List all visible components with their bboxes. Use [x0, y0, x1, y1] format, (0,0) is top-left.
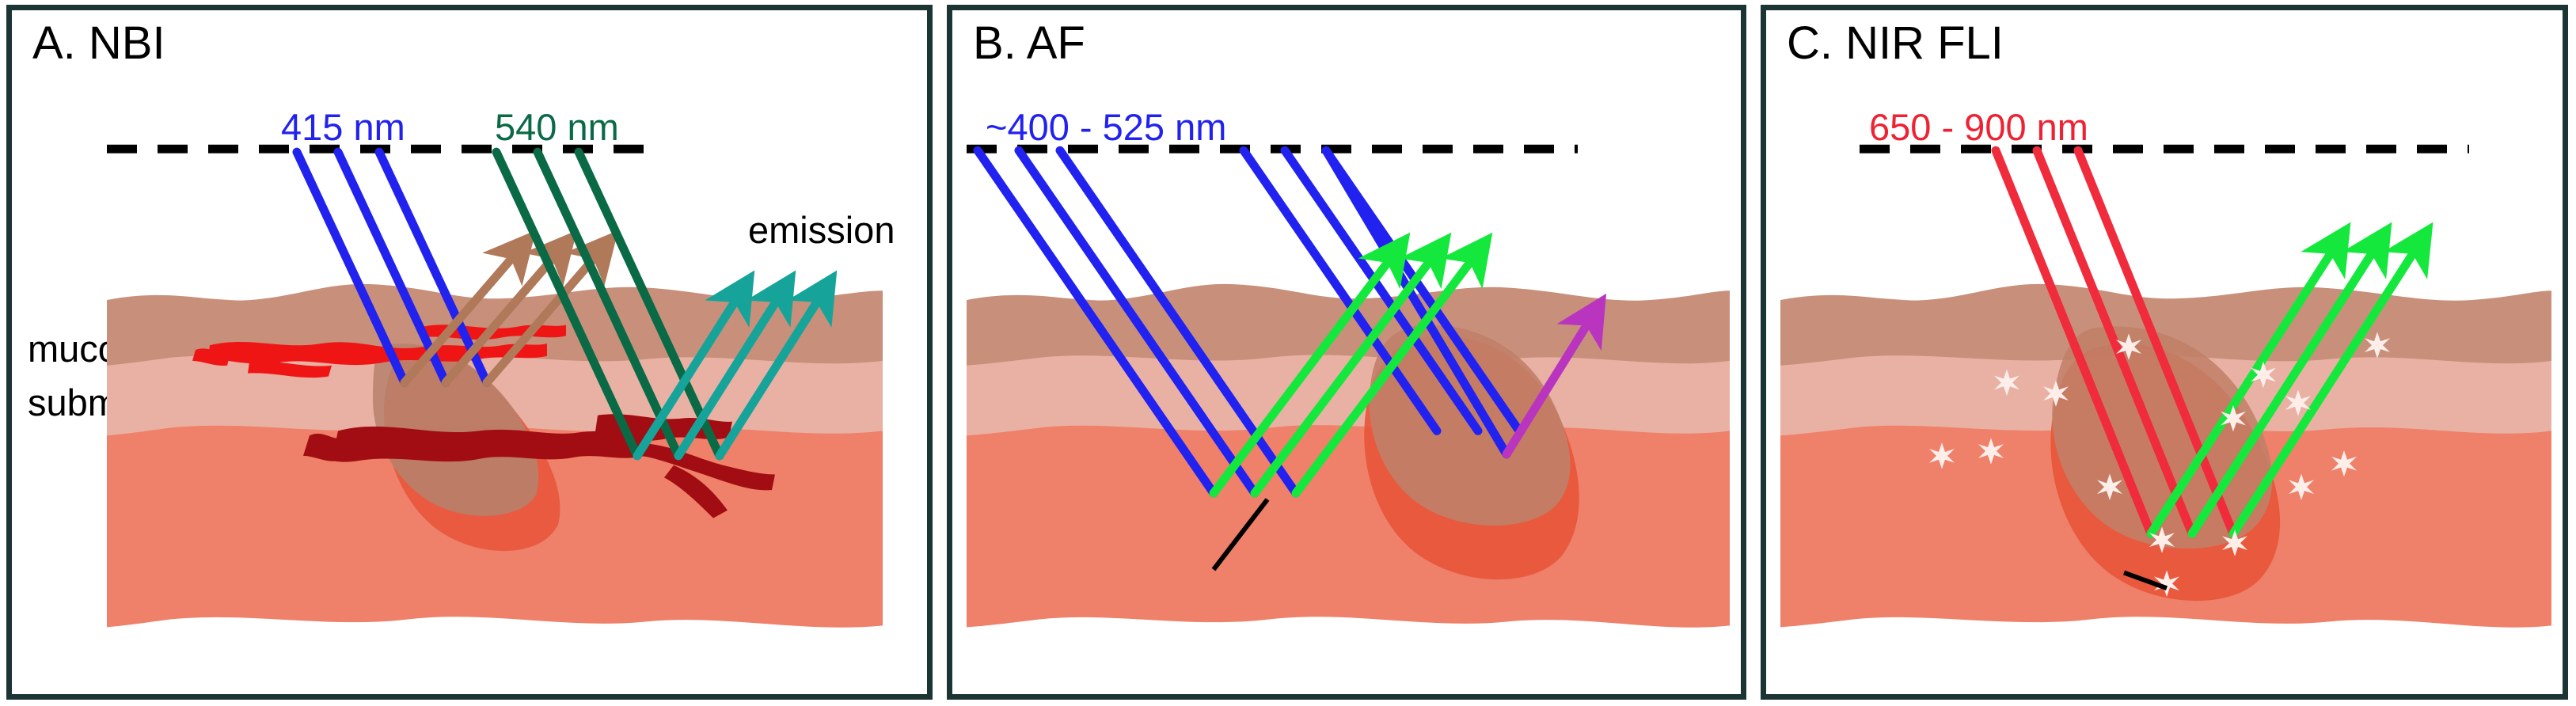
af-diagram — [952, 10, 1741, 694]
tissue-stack-af — [967, 284, 1730, 628]
panel-nbi: A. NBI 415 nm 540 nm mucosa submucosa em… — [6, 5, 933, 700]
nbi-diagram — [12, 10, 927, 694]
panel-nirfli: C. NIR FLI 650 - 900 nm fluorophore — [1761, 5, 2568, 700]
nirfli-diagram — [1766, 10, 2563, 694]
panel-af: B. AF ~400 - 525 nm normal tissue tumor — [947, 5, 1746, 700]
figure-root: A. NBI 415 nm 540 nm mucosa submucosa em… — [0, 0, 2576, 706]
